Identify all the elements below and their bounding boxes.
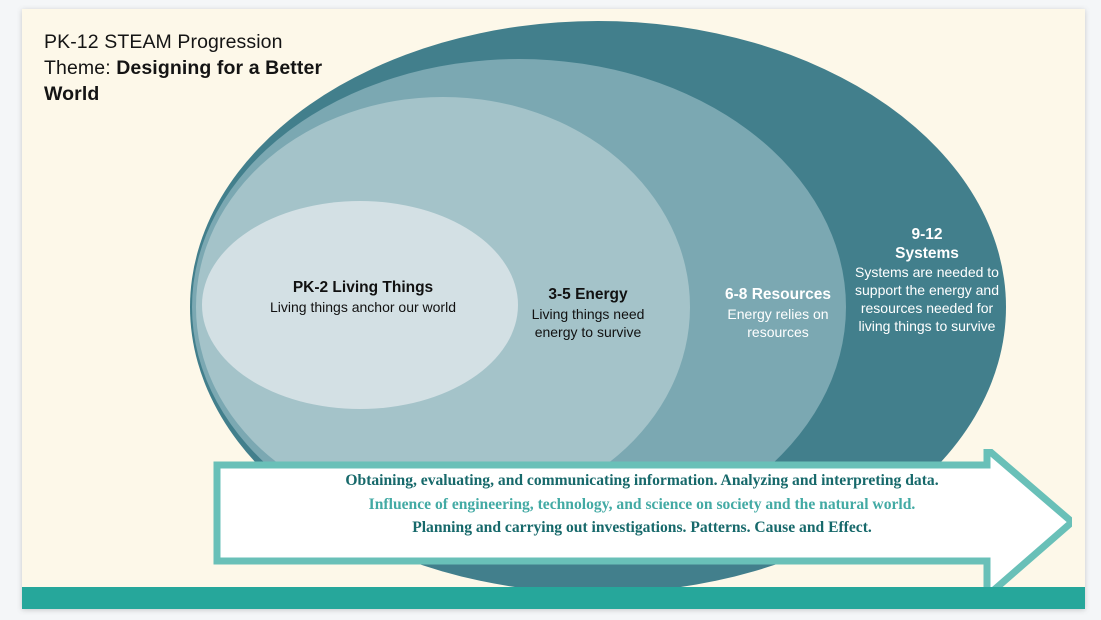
ellipse-subtitle-9-12: Systems are needed to support the energy… [848, 263, 1006, 335]
ellipse-label-6-8: 6-8 Resources Energy relies on resources [704, 286, 852, 342]
screenshot-stage: PK-2 Living Things Living things anchor … [0, 0, 1101, 620]
ellipse-heading-6-8: 6-8 Resources [704, 286, 852, 305]
arrow-line-3: Planning and carrying out investigations… [282, 516, 1002, 540]
page-title: PK-12 STEAM Progression Theme: Designing… [44, 29, 374, 107]
ellipse-subtitle-pk-2: Living things anchor our world [254, 298, 472, 317]
ellipse-label-pk-2: PK-2 Living Things Living things anchor … [254, 279, 472, 316]
arrow-line-1: Obtaining, evaluating, and communicating… [282, 469, 1002, 493]
ellipse-label-9-12: 9-12 Systems Systems are needed to suppo… [848, 225, 1006, 335]
ellipse-label-3-5: 3-5 Energy Living things need energy to … [512, 286, 664, 342]
ellipse-heading-pk-2: PK-2 Living Things [254, 279, 472, 298]
ellipse-heading-3-5: 3-5 Energy [512, 286, 664, 305]
title-theme-prefix: Theme: [44, 57, 116, 79]
ellipse-subtitle-6-8: Energy relies on resources [704, 305, 852, 342]
ellipse-heading-9-12-line1: 9-12 [848, 225, 1006, 244]
title-theme-line-2: World [44, 83, 99, 105]
arrow-line-2: Influence of engineering, technology, an… [282, 493, 1002, 517]
bottom-accent-bar [22, 587, 1085, 609]
ellipse-subtitle-3-5: Living things need energy to survive [512, 305, 664, 342]
arrow-banner[interactable]: Obtaining, evaluating, and communicating… [192, 449, 1072, 609]
slide-canvas: PK-2 Living Things Living things anchor … [22, 9, 1085, 609]
title-theme-line-1: Designing for a Better [116, 57, 322, 79]
arrow-banner-text: Obtaining, evaluating, and communicating… [282, 469, 1002, 540]
title-line-1: PK-12 STEAM Progression [44, 31, 283, 53]
ellipse-heading-9-12-line2: Systems [848, 244, 1006, 263]
